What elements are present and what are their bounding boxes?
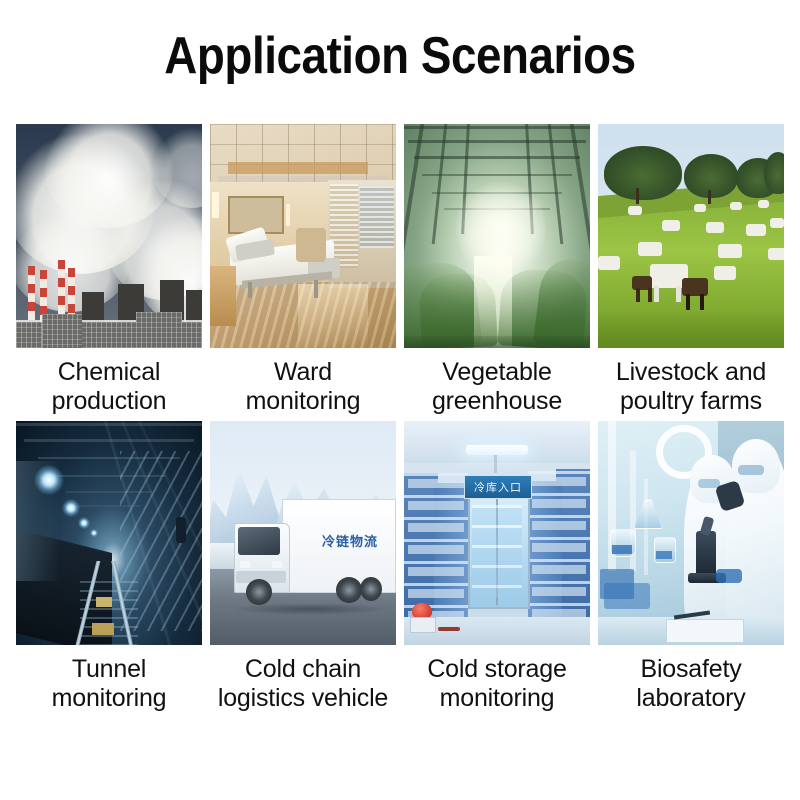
scenario-label-cold-chain-logistics-vehicle: Cold chain logistics vehicle (208, 655, 398, 712)
scenario-image-cold-chain-logistics-vehicle: 冷链物流 (210, 421, 396, 645)
scenario-image-vegetable-greenhouse (404, 124, 590, 348)
scenario-card-vegetable-greenhouse[interactable]: Vegetable greenhouse (404, 124, 590, 415)
scenario-label-line-2: monitoring (14, 684, 204, 713)
scenario-label-line-1: Biosafety (596, 655, 786, 684)
page-title: Application Scenarios (48, 26, 752, 86)
scenario-label-line-1: Vegetable (402, 358, 592, 387)
scenario-label-line-1: Chemical (14, 358, 204, 387)
scenario-image-biosafety-laboratory (598, 421, 784, 645)
scenario-label-line-2: production (14, 387, 204, 416)
scenario-card-ward-monitoring[interactable]: Ward monitoring (210, 124, 396, 415)
scenario-label-line-1: Cold storage (402, 655, 592, 684)
scenario-label-chemical-production: Chemical production (14, 358, 204, 415)
scenario-label-biosafety-laboratory: Biosafety laboratory (596, 655, 786, 712)
scenario-label-line-1: Tunnel (14, 655, 204, 684)
scenario-image-tunnel-monitoring (16, 421, 202, 645)
scenario-label-line-1: Ward (208, 358, 398, 387)
scenario-label-cold-storage-monitoring: Cold storage monitoring (402, 655, 592, 712)
scenario-label-line-2: laboratory (596, 684, 786, 713)
scenario-label-vegetable-greenhouse: Vegetable greenhouse (402, 358, 592, 415)
scenario-label-ward-monitoring: Ward monitoring (208, 358, 398, 415)
scenario-card-livestock-and-poultry-farms[interactable]: Livestock and poultry farms (598, 124, 784, 415)
scenario-label-line-2: greenhouse (402, 387, 592, 416)
scenario-label-line-2: logistics vehicle (208, 684, 398, 713)
scenario-label-livestock-and-poultry-farms: Livestock and poultry farms (596, 358, 786, 415)
scenario-row-1: Chemical production (16, 124, 786, 415)
scenario-image-ward-monitoring (210, 124, 396, 348)
scenario-image-cold-storage-monitoring: 冷库入口 (404, 421, 590, 645)
scenario-grid: Chemical production (16, 124, 786, 718)
scenario-label-tunnel-monitoring: Tunnel monitoring (14, 655, 204, 712)
application-scenarios-page: Application Scenarios (0, 0, 800, 800)
scenario-image-chemical-production (16, 124, 202, 348)
scenario-label-line-1: Cold chain (208, 655, 398, 684)
scenario-card-cold-storage-monitoring[interactable]: 冷库入口 Cold storage monitoring (404, 421, 590, 712)
scenario-row-2: Tunnel monitoring 冷链物流 (16, 421, 786, 712)
cold-storage-entrance-sign: 冷库入口 (474, 479, 522, 495)
scenario-card-tunnel-monitoring[interactable]: Tunnel monitoring (16, 421, 202, 712)
scenario-card-chemical-production[interactable]: Chemical production (16, 124, 202, 415)
scenario-card-biosafety-laboratory[interactable]: Biosafety laboratory (598, 421, 784, 712)
scenario-card-cold-chain-logistics-vehicle[interactable]: 冷链物流 Cold chain logistics vehicle (210, 421, 396, 712)
scenario-image-livestock-and-poultry-farms (598, 124, 784, 348)
scenario-label-line-2: poultry farms (596, 387, 786, 416)
scenario-label-line-2: monitoring (402, 684, 592, 713)
scenario-label-line-2: monitoring (208, 387, 398, 416)
truck-body-text: 冷链物流 (322, 531, 378, 550)
scenario-label-line-1: Livestock and (596, 358, 786, 387)
